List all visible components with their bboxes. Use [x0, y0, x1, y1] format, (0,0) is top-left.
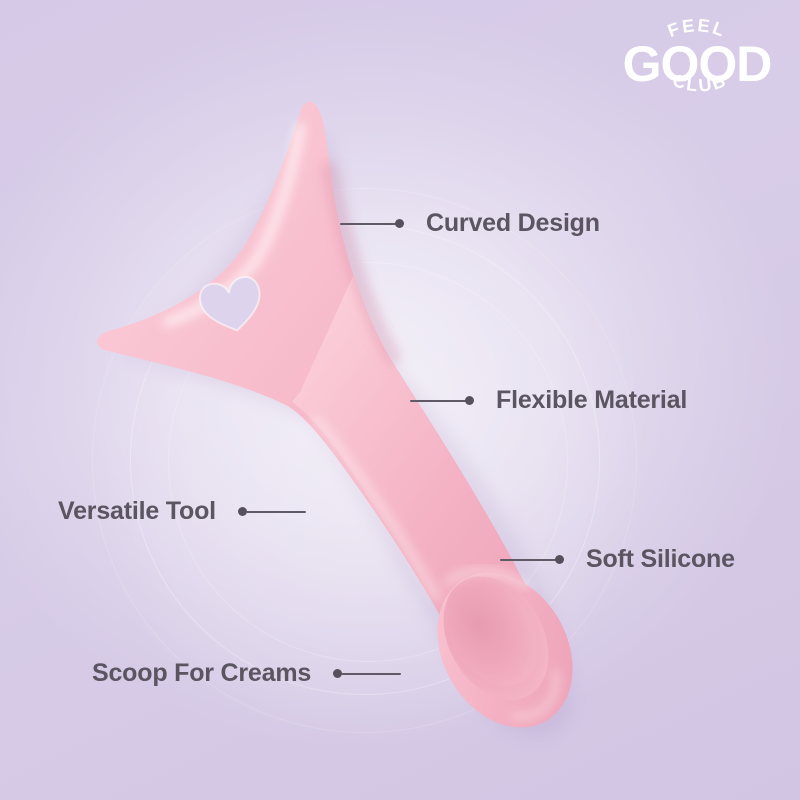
leader-line-versatile-tool	[238, 507, 306, 516]
infographic-canvas: FEEL GOOD CLUB Curved Design Flexible Ma…	[0, 0, 800, 800]
feel-good-club-logo: FEEL GOOD CLUB	[612, 8, 782, 108]
leader-line-scoop-for-creams	[333, 669, 401, 678]
leader-dot-flexible-material	[465, 396, 474, 405]
callout-label-versatile-tool: Versatile Tool	[58, 497, 216, 526]
callout-label-flexible-material: Flexible Material	[496, 386, 687, 415]
leader-line-flexible-material	[410, 396, 474, 405]
callout-scoop-for-creams: Scoop For Creams	[92, 659, 401, 688]
callout-curved-design: Curved Design	[340, 209, 600, 238]
callout-label-scoop-for-creams: Scoop For Creams	[92, 659, 311, 688]
callout-versatile-tool: Versatile Tool	[58, 497, 306, 526]
leader-line-soft-silicone	[500, 555, 564, 564]
callout-label-soft-silicone: Soft Silicone	[586, 545, 735, 574]
leader-dot-curved-design	[395, 219, 404, 228]
leader-line-curved-design	[340, 219, 404, 228]
leader-dot-soft-silicone	[555, 555, 564, 564]
callout-soft-silicone: Soft Silicone	[500, 545, 735, 574]
callout-label-curved-design: Curved Design	[426, 209, 600, 238]
callout-flexible-material: Flexible Material	[410, 386, 687, 415]
